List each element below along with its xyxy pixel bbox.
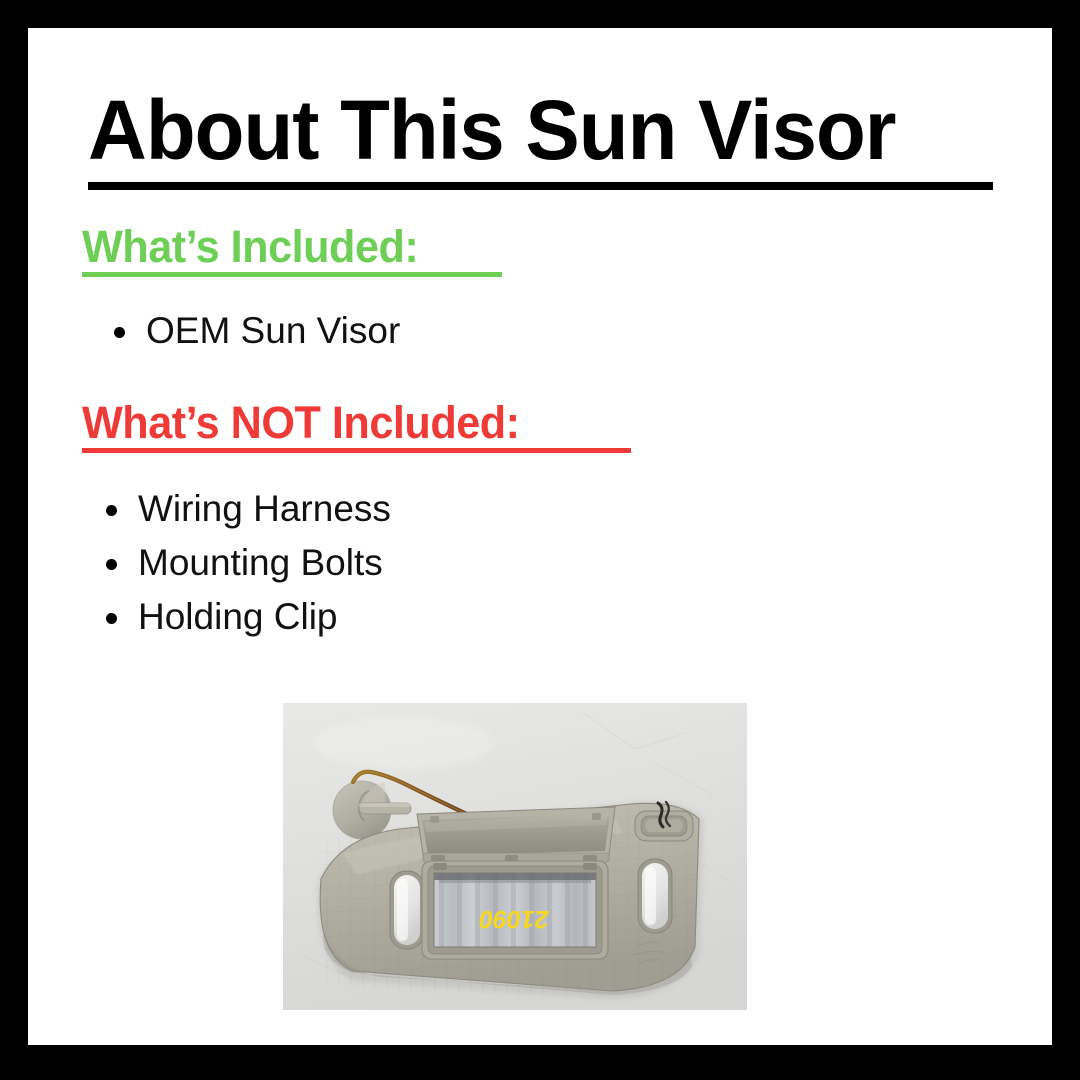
section-heading-not-included-underline (82, 448, 631, 453)
section-heading-not-included: What’s NOT Included: (82, 400, 520, 445)
list-item: OEM Sun Visor (108, 304, 400, 358)
poster-frame: About This Sun Visor What’s Included: OE… (0, 0, 1080, 1080)
page-title-underline (88, 182, 993, 190)
list-item: Holding Clip (100, 590, 391, 644)
poster-canvas: About This Sun Visor What’s Included: OE… (28, 28, 1052, 1045)
page-title: About This Sun Visor (88, 88, 971, 172)
section-heading-included: What’s Included: (82, 224, 418, 269)
page-title-block: About This Sun Visor (88, 88, 998, 190)
list-item: Mounting Bolts (100, 536, 391, 590)
sun-visor-illustration: 21090 (283, 703, 747, 1010)
not-included-items-list: Wiring Harness Mounting Bolts Holding Cl… (100, 482, 391, 644)
list-item: Wiring Harness (100, 482, 391, 536)
included-items-list: OEM Sun Visor (108, 304, 400, 358)
product-photo: 21090 (283, 703, 747, 1010)
section-heading-included-underline (82, 272, 502, 277)
svg-text:21090: 21090 (477, 905, 551, 933)
handwritten-marking: 21090 (477, 905, 551, 933)
